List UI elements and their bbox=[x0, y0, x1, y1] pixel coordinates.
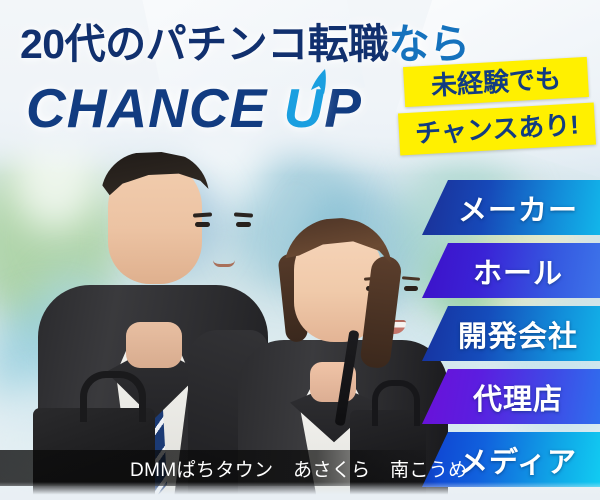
headline-text: 20代のパチンコ転職なら bbox=[20, 16, 450, 72]
logo-letter-u: U bbox=[284, 74, 325, 142]
chance-up-logo: CHANCE UP bbox=[26, 74, 362, 142]
category-button-hall[interactable]: ホール bbox=[422, 243, 600, 298]
man-eyebrow-right bbox=[234, 212, 253, 217]
category-label-hall: ホール bbox=[459, 250, 563, 292]
man-briefcase-handle bbox=[80, 371, 146, 422]
category-button-maker[interactable]: メーカー bbox=[422, 180, 600, 235]
category-label-development-company: 開発会社 bbox=[444, 313, 578, 355]
category-label-maker: メーカー bbox=[444, 187, 578, 229]
logo-u-glyph: U bbox=[284, 77, 325, 139]
man-eye-left bbox=[195, 222, 210, 227]
man-mouth bbox=[213, 260, 235, 267]
logo-text-p: P bbox=[324, 77, 362, 139]
category-label-agency: 代理店 bbox=[459, 376, 563, 418]
businessman-photo bbox=[38, 150, 268, 500]
category-button-agency[interactable]: 代理店 bbox=[422, 369, 600, 424]
logo-text-chance: CHANCE bbox=[26, 77, 284, 139]
bottom-fade-overlay bbox=[0, 482, 600, 500]
woman-eyebrow-right bbox=[402, 276, 420, 281]
woman-eye-right bbox=[404, 286, 418, 291]
headline-suffix: なら bbox=[389, 21, 470, 67]
category-button-development-company[interactable]: 開発会社 bbox=[422, 306, 600, 361]
caption-text: DMMぱちタウン あさくら 南こうめ bbox=[0, 455, 468, 482]
banner-advertisement: 20代のパチンコ転職なら CHANCE UP 未経験でも チャンスあり! メーカ… bbox=[0, 0, 600, 500]
man-neck bbox=[126, 322, 182, 368]
man-eyebrow-left bbox=[193, 212, 212, 217]
woman-handbag-handle bbox=[372, 380, 420, 426]
headline-main: 20代のパチンコ転職 bbox=[20, 21, 389, 67]
caption-bar: DMMぱちタウン あさくら 南こうめ bbox=[0, 450, 440, 486]
